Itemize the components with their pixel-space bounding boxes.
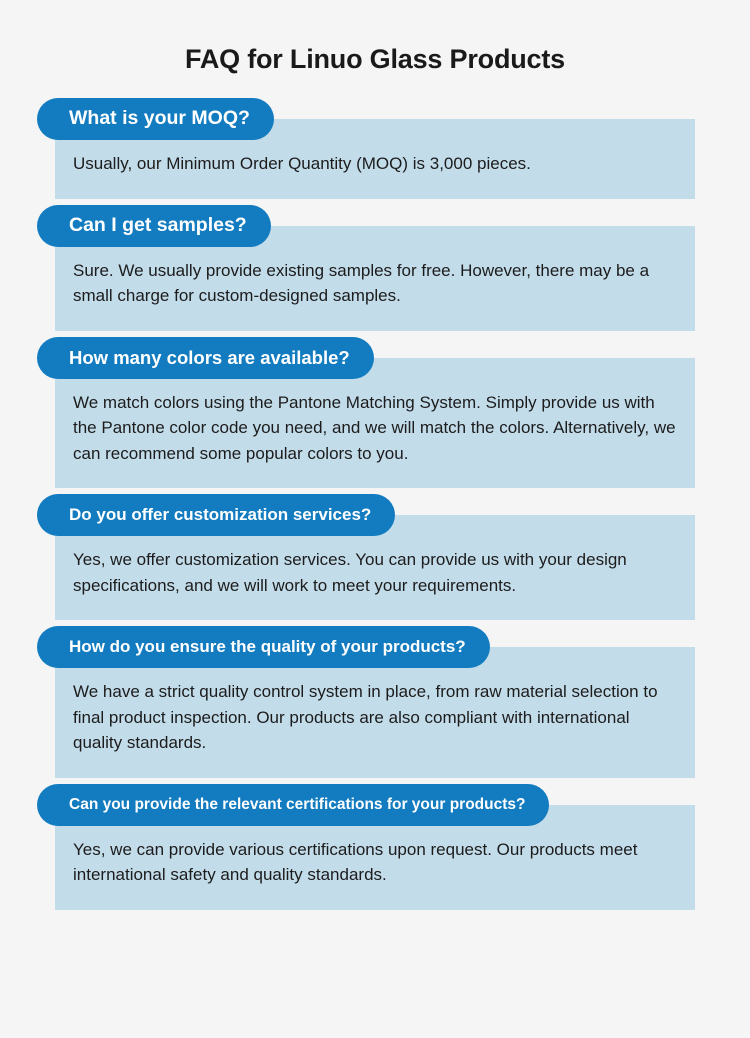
faq-item-1: What is your MOQ? Usually, our Minimum O… <box>0 98 750 199</box>
faq-answer-text-4: Yes, we offer customization services. Yo… <box>73 547 677 598</box>
faq-item-6: Can you provide the relevant certificati… <box>0 784 750 910</box>
faq-question-5[interactable]: How do you ensure the quality of your pr… <box>37 626 490 668</box>
faq-question-2[interactable]: Can I get samples? <box>37 205 271 247</box>
page-title: FAQ for Linuo Glass Products <box>0 0 750 76</box>
faq-list: What is your MOQ? Usually, our Minimum O… <box>0 98 750 910</box>
faq-answer-text-1: Usually, our Minimum Order Quantity (MOQ… <box>73 151 677 177</box>
faq-page: FAQ for Linuo Glass Products What is you… <box>0 0 750 1038</box>
faq-question-1[interactable]: What is your MOQ? <box>37 98 274 140</box>
faq-item-2: Can I get samples? Sure. We usually prov… <box>0 205 750 331</box>
faq-item-4: Do you offer customization services? Yes… <box>0 494 750 620</box>
faq-answer-text-6: Yes, we can provide various certificatio… <box>73 837 677 888</box>
faq-question-3[interactable]: How many colors are available? <box>37 337 374 379</box>
faq-item-5: How do you ensure the quality of your pr… <box>0 626 750 778</box>
faq-answer-text-2: Sure. We usually provide existing sample… <box>73 258 677 309</box>
faq-question-6[interactable]: Can you provide the relevant certificati… <box>37 784 549 826</box>
faq-answer-text-5: We have a strict quality control system … <box>73 679 677 756</box>
faq-item-3: How many colors are available? We match … <box>0 337 750 489</box>
faq-answer-text-3: We match colors using the Pantone Matchi… <box>73 390 677 467</box>
faq-question-4[interactable]: Do you offer customization services? <box>37 494 395 536</box>
